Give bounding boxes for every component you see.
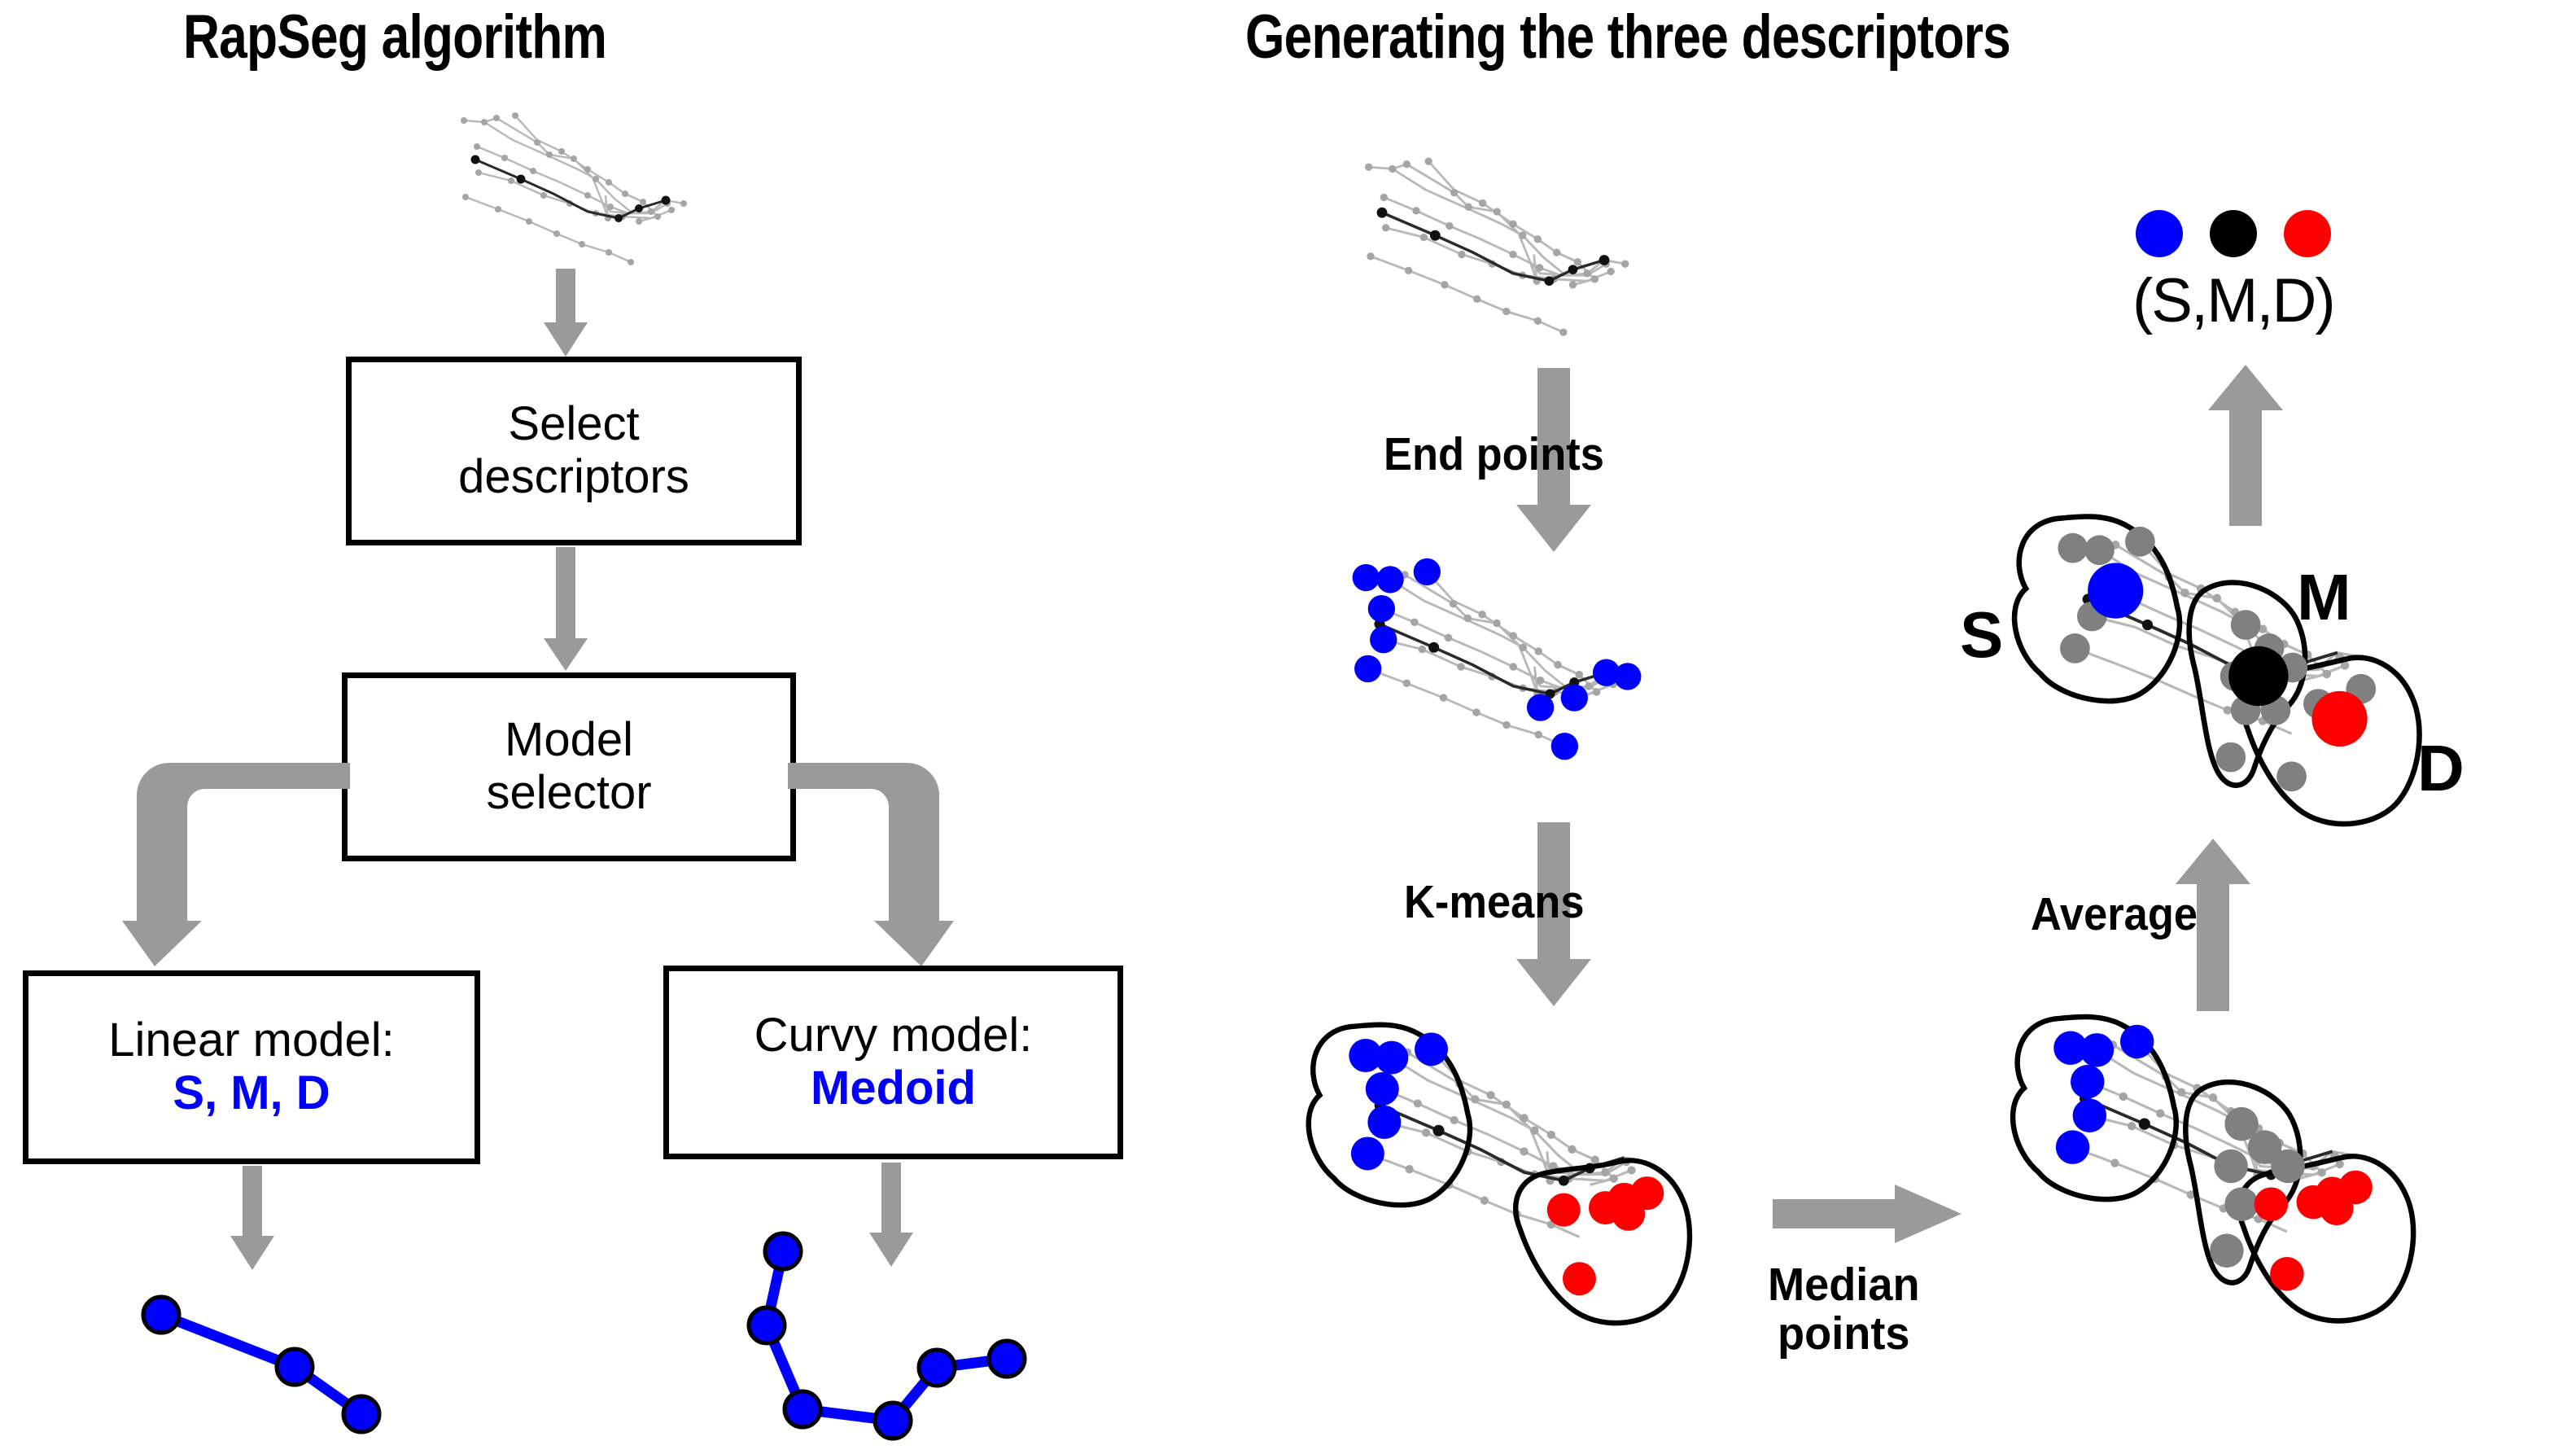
step-label-median-points: Median points [1768,1260,1920,1359]
blue-cluster-dots [1349,1032,1448,1170]
endpoints-graph [1298,537,1705,806]
step-label-k-means: K-means [1404,875,1584,929]
flowbox-model-selector-line1: Model [505,714,633,767]
arrow-elbow-to-linear-model [106,737,350,981]
s-dot [2136,210,2183,257]
flowbox-linear-model-line1: Linear model: [108,1014,394,1067]
arrow-down-to-linear-result [224,1166,281,1272]
flowbox-curvy-model-line2: Medoid [811,1062,976,1115]
s-descriptor-dot [2088,563,2143,619]
step-label-average: Average [2031,887,2198,941]
three-clusters-graph [1994,997,2474,1335]
skeleton-graph-left [407,98,749,269]
flowbox-select-descriptors-line2: descriptors [458,451,689,504]
flowbox-model-selector[interactable]: Model selector [342,672,796,861]
flowbox-linear-model-line2: S, M, D [173,1067,330,1120]
panel-title-left: RapSeg algorithm [183,2,606,72]
cluster-label-s: S [1960,598,2003,672]
step-label-median-points-line2: points [1768,1309,1920,1358]
curvy-model-result-polyline [733,1221,1058,1454]
arrow-elbow-to-curvy-model [788,737,1032,981]
flowbox-curvy-model-line1: Curvy model: [754,1009,1033,1062]
cluster-outline-red [1515,1160,1690,1323]
cluster-label-d: D [2417,731,2464,806]
smd-legend-text: (S,M,D) [2132,265,2334,336]
step-label-median-points-line1: Median [1768,1260,1920,1309]
red-cluster-dots [1547,1176,1664,1295]
kmeans-clusters-graph [1290,1005,1754,1339]
smd-cluster-diagram [1998,497,2478,839]
d-cluster-dots [2255,1171,2373,1291]
flowbox-select-descriptors-line1: Select [508,398,639,451]
m-dot [2210,210,2257,257]
flowbox-curvy-model[interactable]: Curvy model: Medoid [663,966,1123,1159]
m-descriptor-dot [2228,646,2288,706]
cluster-label-m: M [2297,560,2351,635]
linear-model-result-polyline [122,1282,399,1445]
panel-title-right: Generating the three descriptors [1245,2,2010,72]
flowbox-select-descriptors[interactable]: Select descriptors [346,357,802,545]
flowbox-model-selector-line2: selector [486,767,651,820]
skeleton-graph-right [1302,122,1701,358]
arrow-up-to-legend [2202,365,2291,528]
d-dot [2284,210,2331,257]
s-cluster-dots [2053,1025,2154,1164]
arrow-down-to-model-selector [537,547,594,673]
flowbox-linear-model[interactable]: Linear model: S, M, D [23,970,480,1164]
d-descriptor-dot [2311,691,2367,747]
step-label-end-points: End points [1384,427,1604,481]
arrow-down-to-select [537,269,594,358]
arrow-right-median-points [1773,1185,1968,1250]
smd-legend: (S,M,D) [2132,210,2334,336]
